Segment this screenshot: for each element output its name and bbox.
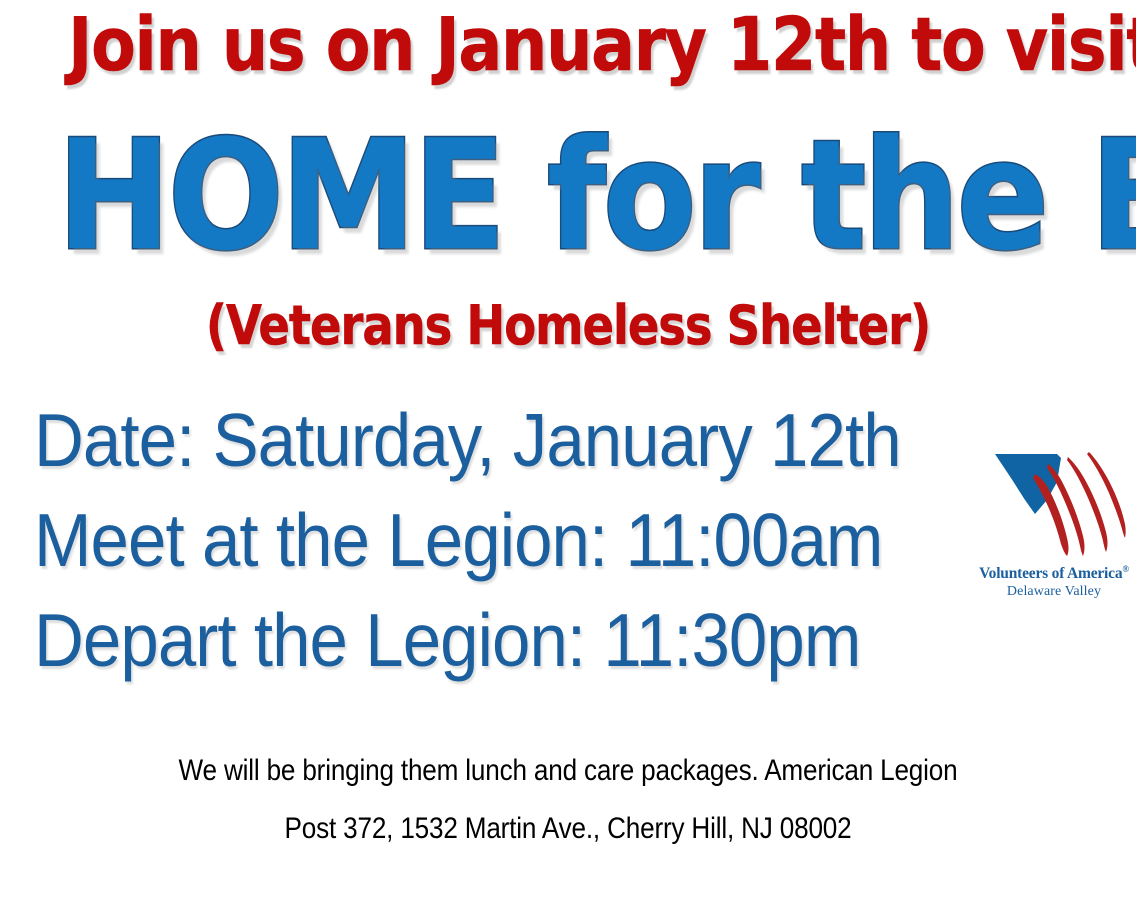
detail-line-meet-time: Meet at the Legion: 11:00am [34,490,890,590]
footer-note: We will be bringing them lunch and care … [0,742,1136,858]
page-title: HOME for the BRAVE [57,120,1079,272]
registered-trademark-icon: ® [1122,564,1129,574]
footer-line-2: Post 372, 1532 Martin Ave., Cherry Hill,… [74,800,1062,858]
detail-line-depart-time: Depart the Legion: 11:30pm [34,590,890,690]
volunteers-of-america-chevron-icon [981,448,1127,560]
footer-line-1: We will be bringing them lunch and care … [74,742,1062,800]
detail-line-date: Date: Saturday, January 12th [34,390,890,490]
headline-subtitle: (Veterans Homeless Shelter) [80,298,1057,355]
event-details-block: Date: Saturday, January 12th Meet at the… [34,390,964,690]
volunteers-of-america-logo: Volunteers of America® Delaware Valley [978,448,1130,606]
logo-organization-name: Volunteers of America® [978,564,1130,583]
logo-organization-text: Volunteers of America [979,565,1122,582]
logo-wordmark: Volunteers of America® Delaware Valley [978,564,1130,600]
flyer-canvas: Join us on January 12th to visit HOME fo… [0,0,1136,899]
logo-region-name: Delaware Valley [978,584,1130,600]
headline-top-line: Join us on January 12th to visit [68,8,1068,83]
